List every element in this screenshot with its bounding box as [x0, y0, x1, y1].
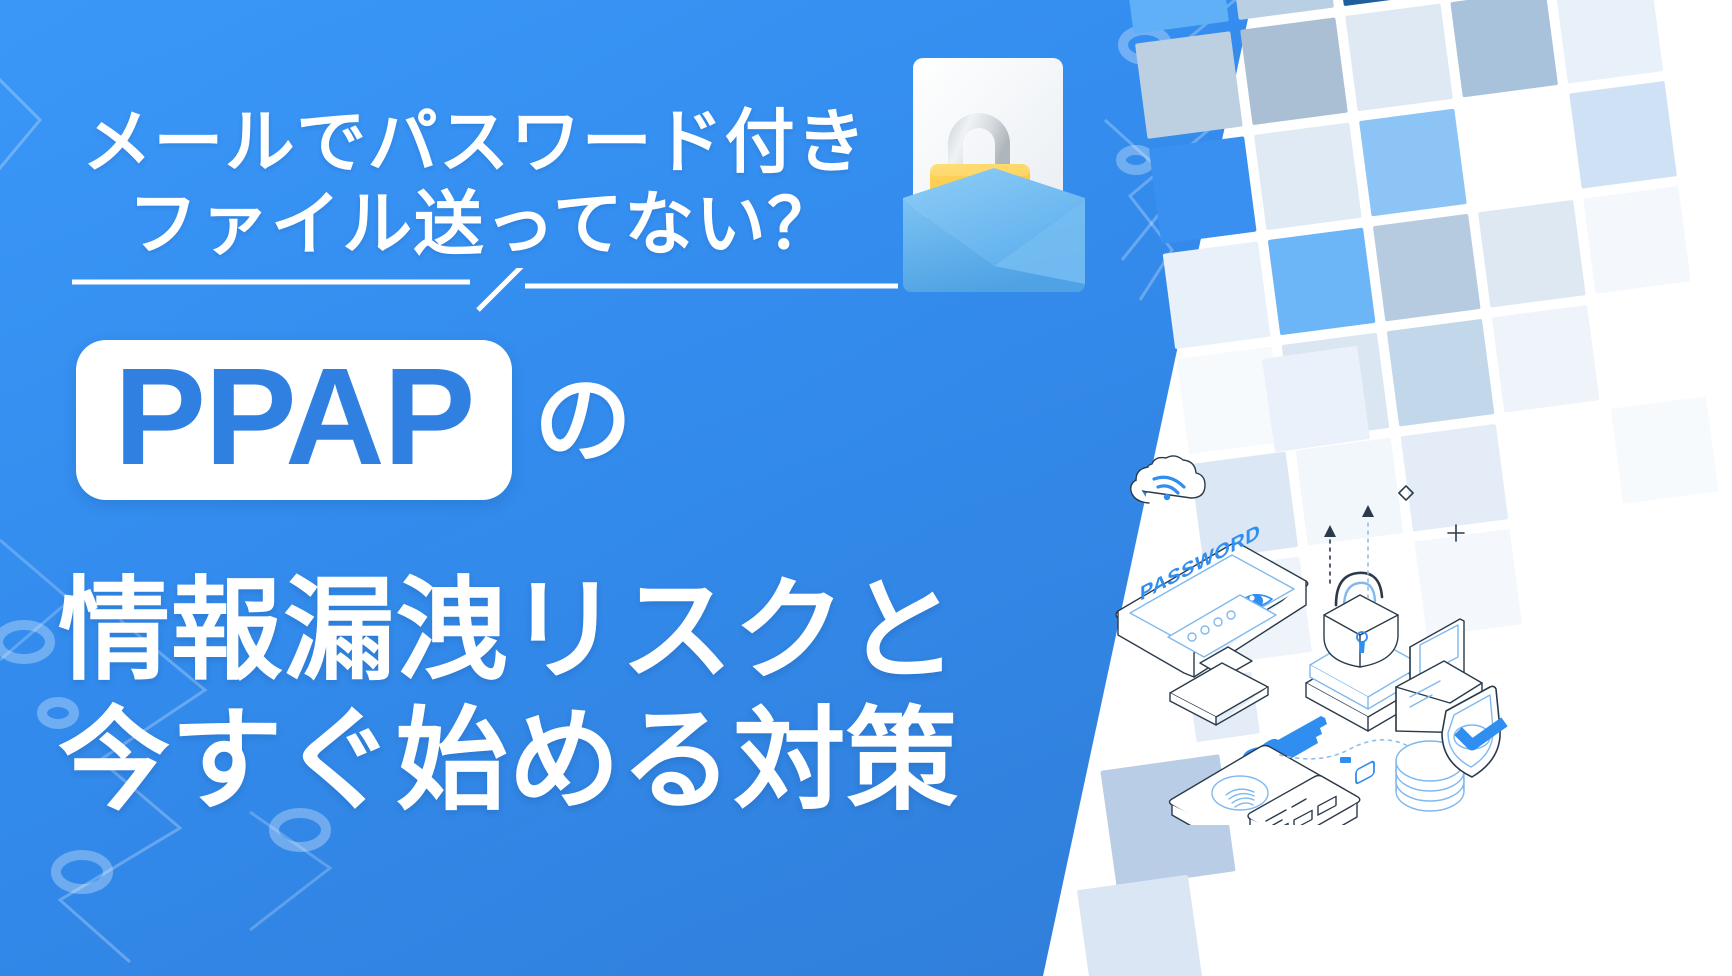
particle-no: の: [534, 371, 632, 469]
ppap-badge-label: PPAP: [114, 348, 474, 486]
float-square-2: [1077, 875, 1203, 976]
ppap-badge: PPAP: [76, 340, 512, 500]
arrow-head-2: [1324, 525, 1336, 537]
padlock-icon: [1324, 573, 1398, 667]
sub-headline-line-2: ファイル送ってない？: [128, 168, 839, 269]
slash-divider: [70, 268, 900, 314]
banner-canvas: メールでパスワード付き ファイル送ってない？ PPAP の 情報漏洩リスクと 今…: [0, 0, 1732, 976]
diamond-marker: [1399, 486, 1413, 500]
arrow-up-markers: [1362, 505, 1374, 517]
accent-dot: [1340, 757, 1351, 763]
main-headline-line-2: 今すぐ始める対策: [58, 670, 958, 832]
envelope-with-padlock-3d: [895, 48, 1110, 298]
password-security-isometric-illustration: PASSWORD: [1110, 425, 1530, 825]
ppap-badge-row: PPAP の: [76, 340, 632, 500]
headline-block: メールでパスワード付き ファイル送ってない？ PPAP の 情報漏洩リスクと 今…: [0, 0, 1050, 976]
plus-marker: [1448, 525, 1464, 541]
